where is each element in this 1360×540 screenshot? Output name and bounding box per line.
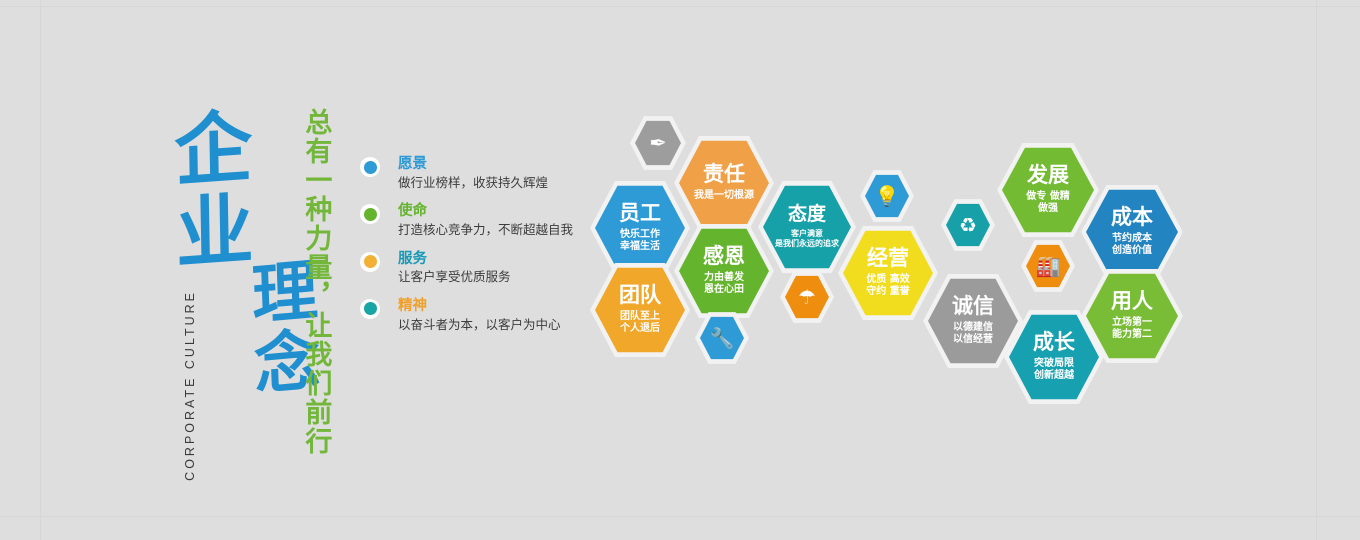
value-bullet-icon — [360, 252, 380, 272]
value-description: 以奋斗者为本，以客户为中心 — [398, 317, 585, 333]
hexagon-subtitle: 我是一切根源 — [694, 190, 754, 202]
hexagon-subtitle: 做专 做精 做强 — [1026, 191, 1069, 215]
latin-caption: CORPORATE CULTURE — [183, 290, 197, 481]
panel-seam-top — [0, 6, 1360, 7]
value-bullet-icon — [360, 299, 380, 319]
value-title: 使命 — [398, 203, 585, 220]
value-description: 让客户享受优质服务 — [398, 269, 585, 285]
hexagon-title: 成长 — [1033, 332, 1075, 353]
hexagon-title: 员工 — [619, 203, 661, 224]
value-row: 服务让客户享受优质服务 — [360, 251, 585, 285]
hexagon-title: 态度 — [788, 205, 826, 224]
hexagon-title: 用人 — [1111, 291, 1153, 312]
value-title: 愿景 — [398, 156, 585, 173]
hexagon-title: 成本 — [1111, 207, 1153, 228]
panel-seam-left — [40, 0, 41, 540]
hexagon-subtitle: 团队至上 个人退后 — [620, 311, 660, 335]
hexagon-title: 团队 — [619, 285, 661, 306]
hexagon-subtitle: 立场第一 能力第二 — [1112, 317, 1152, 341]
value-row: 精神以奋斗者为本，以客户为中心 — [360, 298, 585, 332]
value-row: 使命打造核心竞争力，不断超越自我 — [360, 203, 585, 237]
hexagon-subtitle: 节约成本 创造价值 — [1112, 233, 1152, 257]
value-list: 愿景做行业榜样，收获持久辉煌使命打造核心竞争力，不断超越自我服务让客户享受优质服… — [360, 156, 585, 345]
cloud-umbrella-icon: ☂ — [798, 287, 816, 307]
hexagon-title: 发展 — [1027, 165, 1069, 186]
value-description: 做行业榜样，收获持久辉煌 — [398, 175, 585, 191]
hexagon-title: 感恩 — [703, 246, 745, 267]
hexagon-subtitle: 以德建信 以信经营 — [953, 322, 993, 346]
value-description: 打造核心竞争力，不断超越自我 — [398, 222, 585, 238]
panel-seam-right — [1316, 0, 1317, 540]
hexagon-title: 责任 — [703, 164, 745, 185]
hexagon-subtitle: 优质 高效 守约 重誉 — [866, 274, 909, 298]
hexagon-subtitle: 突破局限 创新超越 — [1034, 358, 1074, 382]
culture-wall-canvas: 企业 理念 CORPORATE CULTURE 总有一种力量，让我们前行 愿景做… — [0, 0, 1360, 540]
panel-seam-bottom — [0, 516, 1360, 517]
hexagon-subtitle: 力由善发 恩在心田 — [704, 272, 744, 296]
hexagon-subtitle: 客户满意 是我们永远的追求 — [775, 229, 839, 248]
lightbulb-icon: 💡 — [875, 186, 900, 206]
value-title: 服务 — [398, 251, 585, 268]
hexagon-title: 诚信 — [952, 296, 994, 317]
hexagon-title: 经营 — [867, 248, 909, 269]
factory-tower-icon: 🏭 — [1036, 256, 1061, 276]
pen-icon: ✒ — [649, 133, 667, 154]
value-bullet-icon — [360, 157, 380, 177]
value-row: 愿景做行业榜样，收获持久辉煌 — [360, 156, 585, 190]
slogan-text: 总有一种力量，让我们前行 — [300, 108, 331, 456]
wrench-gear-icon: 🔧 — [710, 328, 735, 348]
headline-qiye: 企业 — [167, 105, 248, 276]
recycle-icon: ♻ — [959, 215, 977, 235]
value-title: 精神 — [398, 298, 585, 315]
value-bullet-icon — [360, 204, 380, 224]
hexagon-subtitle: 快乐工作 幸福生活 — [620, 229, 660, 253]
